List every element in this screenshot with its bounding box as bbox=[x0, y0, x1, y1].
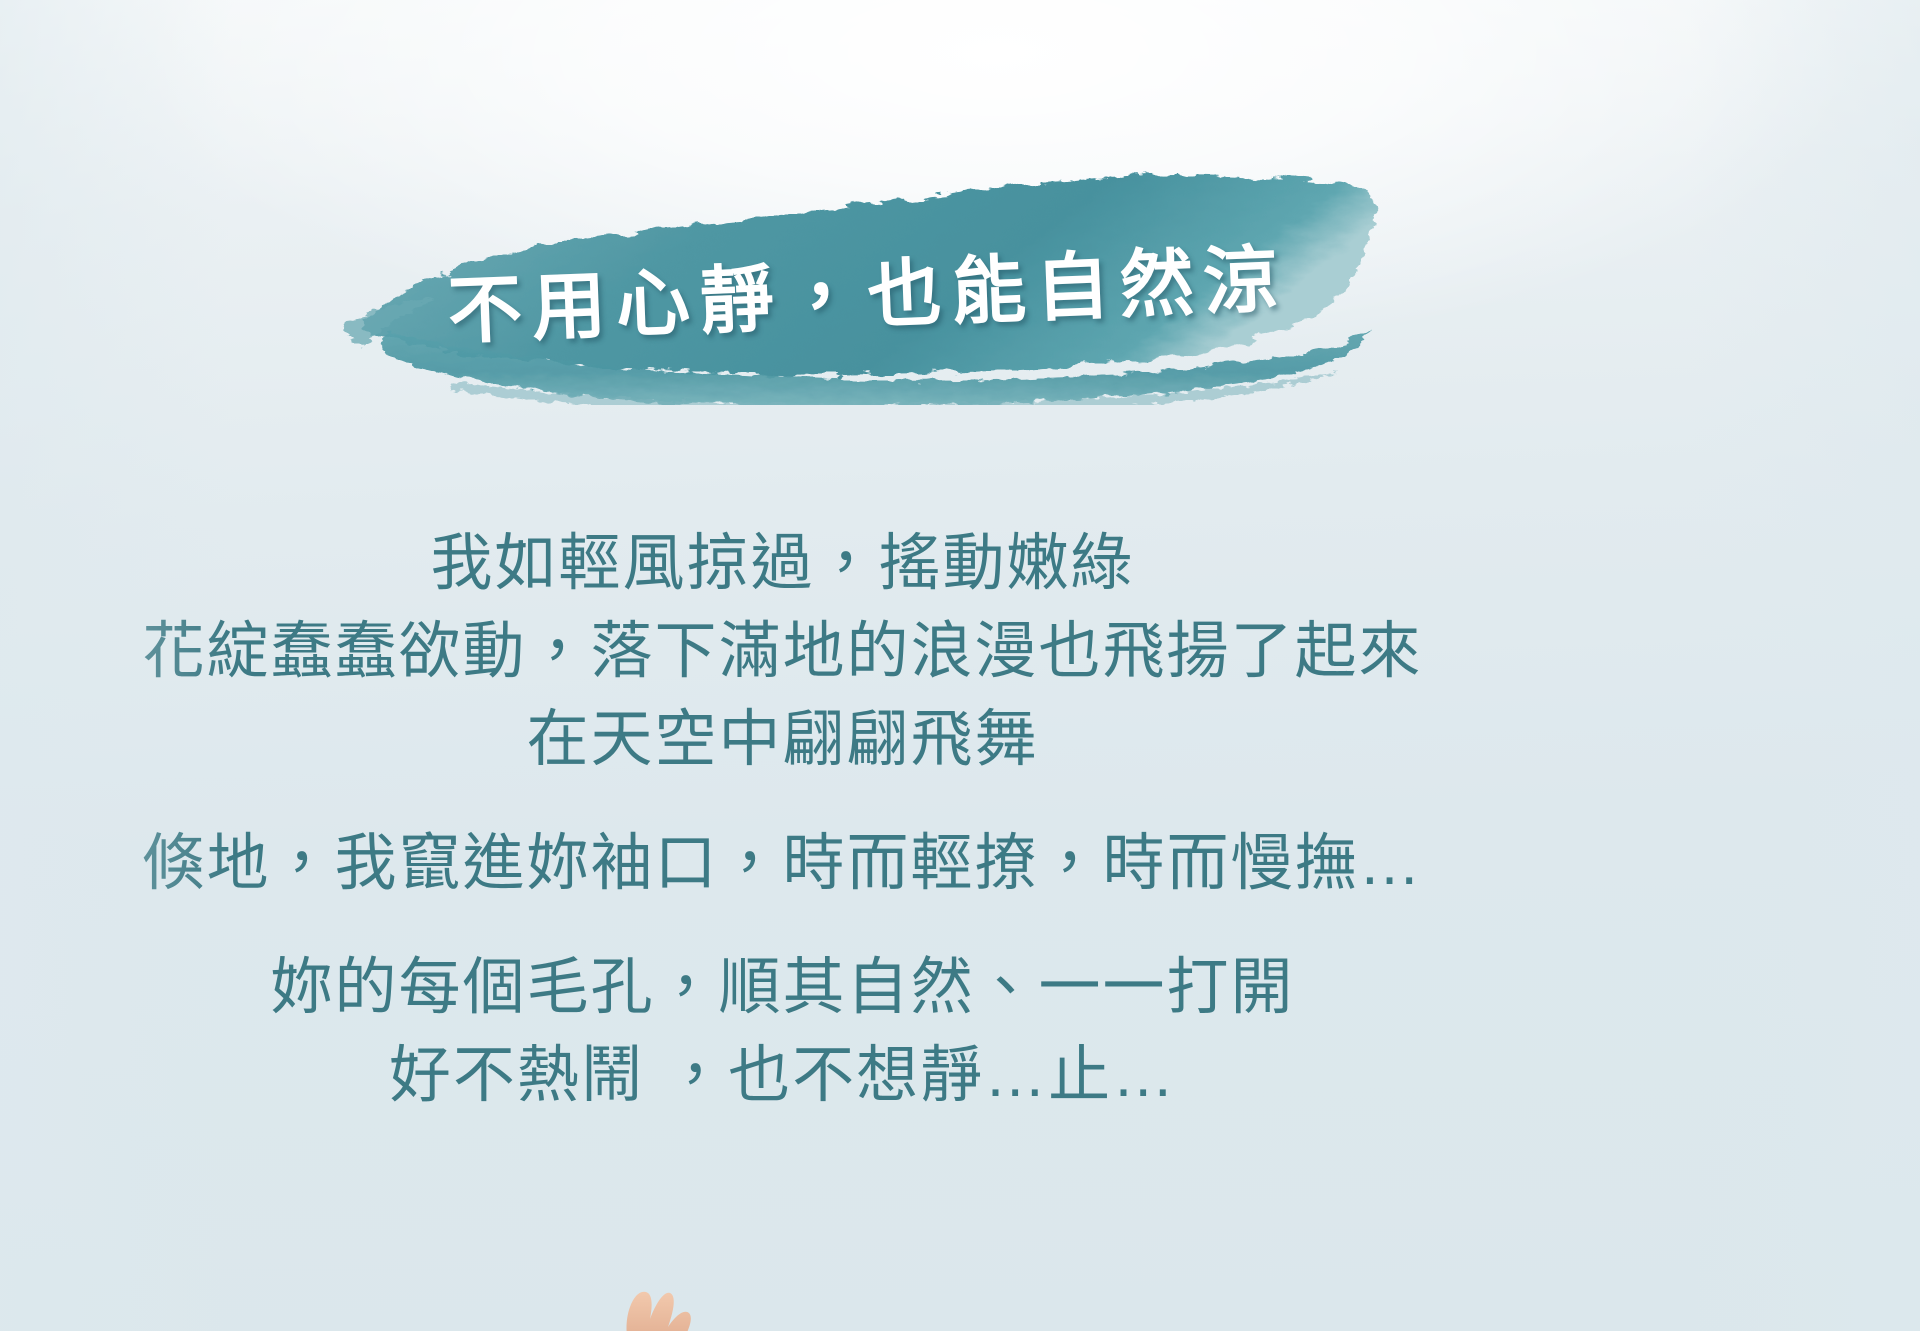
hand-illustration bbox=[560, 1237, 740, 1331]
page-title: 不用心靜，也能自然涼 bbox=[325, 130, 1394, 426]
poem-line: 好不熱鬧 ，也不想靜…止… bbox=[0, 1032, 1565, 1120]
brush-banner: 不用心靜，也能自然涼 bbox=[330, 150, 1390, 405]
poem-line: 妳的每個毛孔，順其自然、一一打開 bbox=[0, 944, 1565, 1032]
stanza: 倏地，我竄進妳袖口，時而輕撩，時而慢撫… bbox=[0, 820, 1565, 908]
poem-line: 花綻蠢蠢欲動，落下滿地的浪漫也飛揚了起來 bbox=[0, 608, 1565, 696]
stanza: 妳的每個毛孔，順其自然、一一打開 好不熱鬧 ，也不想靜…止… bbox=[0, 944, 1565, 1120]
poem-line: 我如輕風掠過，搖動嫩綠 bbox=[0, 520, 1565, 608]
poem-body: 我如輕風掠過，搖動嫩綠 花綻蠢蠢欲動，落下滿地的浪漫也飛揚了起來 在天空中翩翩飛… bbox=[0, 520, 1565, 1120]
poster-canvas: 不用心靜，也能自然涼 我如輕風掠過，搖動嫩綠 花綻蠢蠢欲動，落下滿地的浪漫也飛揚… bbox=[0, 0, 1920, 1331]
stanza: 我如輕風掠過，搖動嫩綠 花綻蠢蠢欲動，落下滿地的浪漫也飛揚了起來 在天空中翩翩飛… bbox=[0, 520, 1565, 784]
poem-line: 倏地，我竄進妳袖口，時而輕撩，時而慢撫… bbox=[0, 820, 1565, 908]
poem-line: 在天空中翩翩飛舞 bbox=[0, 696, 1565, 784]
